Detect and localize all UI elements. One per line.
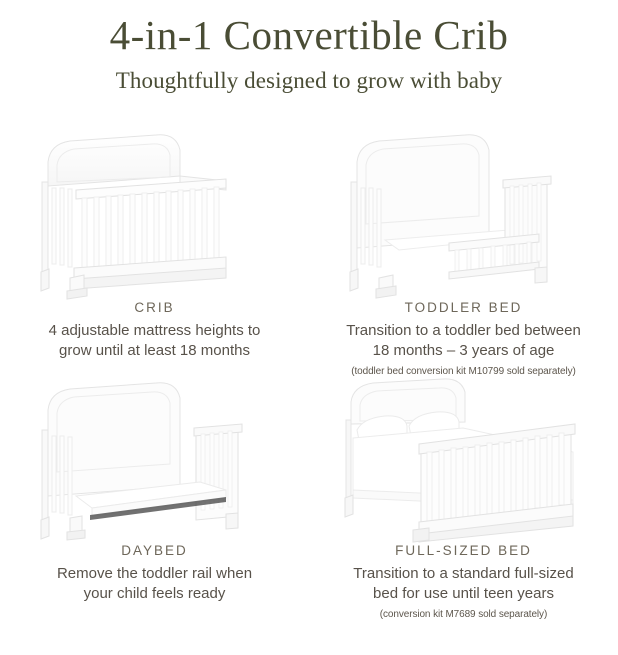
crib-label: CRIB	[10, 300, 299, 315]
daybed-caption: DAYBED Remove the toddler rail when your…	[0, 543, 309, 604]
page-title: 4-in-1 Convertible Crib	[0, 14, 618, 57]
toddler-bed-figure	[309, 128, 618, 300]
toddler-bed-label: TODDLER BED	[319, 300, 608, 315]
page-subtitle: Thoughtfully designed to grow with baby	[0, 68, 618, 94]
daybed-figure	[0, 378, 309, 543]
mode-cell-daybed: DAYBED Remove the toddler rail when your…	[0, 378, 309, 621]
full-sized-bed-desc-line2: bed for use until teen years	[319, 584, 608, 604]
crib-illustration	[30, 128, 280, 300]
daybed-desc-line1: Remove the toddler rail when	[10, 564, 299, 584]
crib-desc-line2: grow until at least 18 months	[10, 341, 299, 361]
full-sized-bed-illustration	[333, 378, 595, 543]
toddler-bed-caption: TODDLER BED Transition to a toddler bed …	[309, 300, 618, 378]
crib-figure	[0, 128, 309, 300]
full-sized-bed-label: FULL-SIZED BED	[319, 543, 608, 558]
full-sized-bed-fine-print: (conversion kit M7689 sold separately)	[319, 608, 608, 621]
conversion-modes-grid: CRIB 4 adjustable mattress heights to gr…	[0, 128, 618, 621]
mode-cell-toddler-bed: TODDLER BED Transition to a toddler bed …	[309, 128, 618, 378]
mode-cell-crib: CRIB 4 adjustable mattress heights to gr…	[0, 128, 309, 378]
daybed-illustration	[30, 378, 280, 543]
full-sized-bed-desc-line1: Transition to a standard full-sized	[319, 564, 608, 584]
mode-cell-full-sized-bed: FULL-SIZED BED Transition to a standard …	[309, 378, 618, 621]
toddler-bed-illustration	[339, 128, 589, 300]
full-sized-bed-figure	[309, 378, 618, 543]
product-infographic: 4-in-1 Convertible Crib Thoughtfully des…	[0, 0, 618, 655]
full-sized-bed-caption: FULL-SIZED BED Transition to a standard …	[309, 543, 618, 621]
toddler-bed-desc-line2: 18 months – 3 years of age	[319, 341, 608, 361]
daybed-label: DAYBED	[10, 543, 299, 558]
crib-desc-line1: 4 adjustable mattress heights to	[10, 321, 299, 341]
toddler-bed-fine-print: (toddler bed conversion kit M10799 sold …	[319, 365, 608, 378]
toddler-bed-desc-line1: Transition to a toddler bed between	[319, 321, 608, 341]
crib-caption: CRIB 4 adjustable mattress heights to gr…	[0, 300, 309, 361]
header: 4-in-1 Convertible Crib Thoughtfully des…	[0, 0, 618, 94]
daybed-desc-line2: your child feels ready	[10, 584, 299, 604]
